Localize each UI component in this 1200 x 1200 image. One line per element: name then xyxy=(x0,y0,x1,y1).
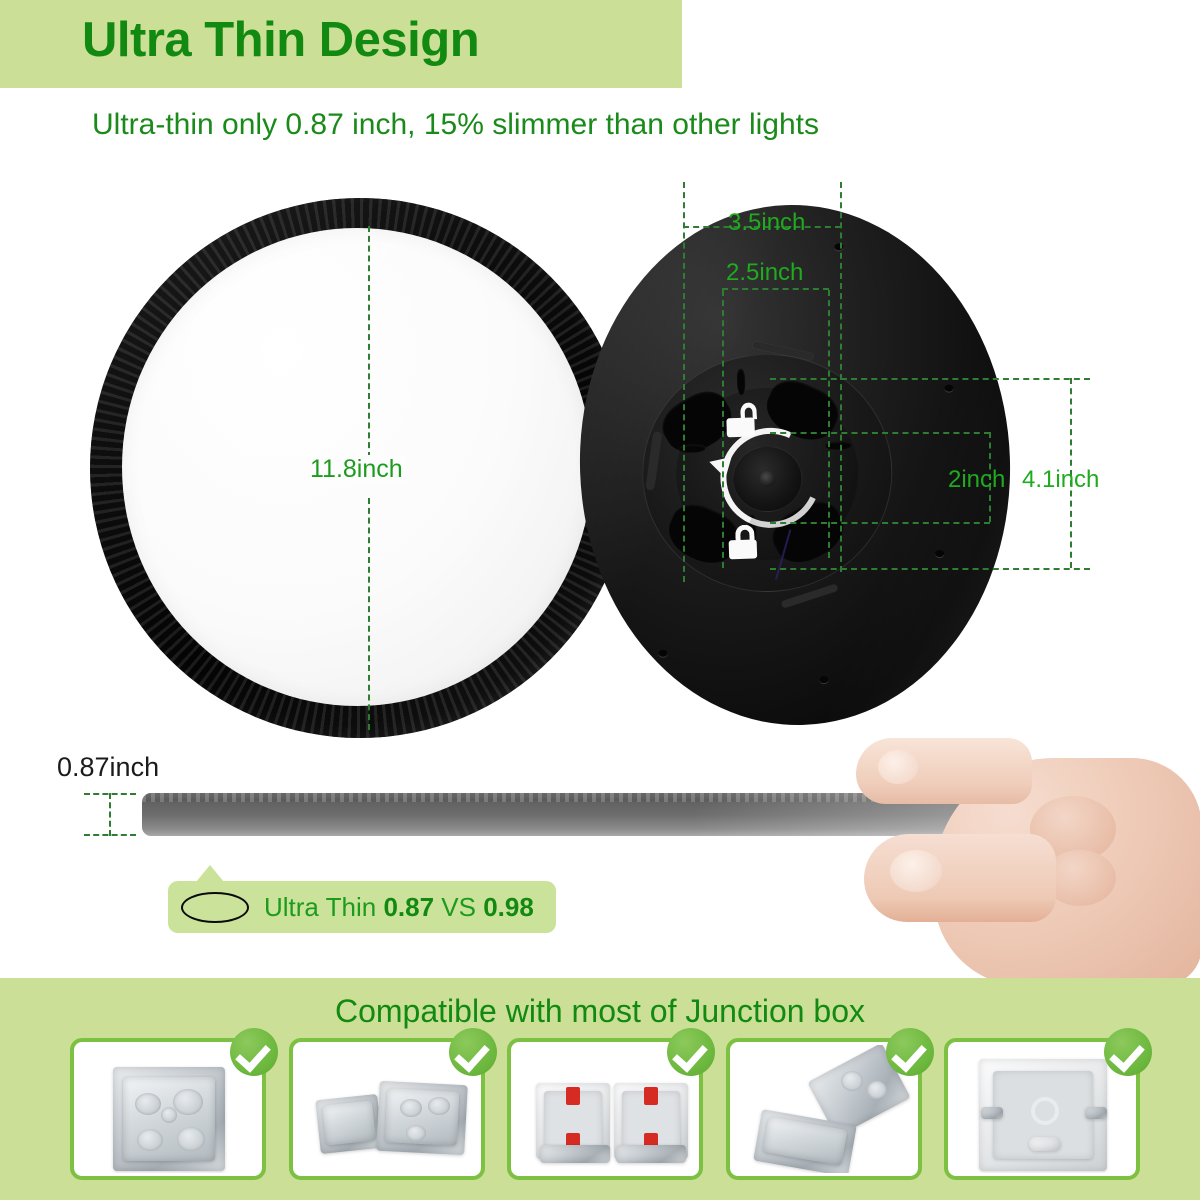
badge-value-old: 0.98 xyxy=(483,892,534,922)
junction-box-card[interactable] xyxy=(944,1038,1140,1180)
diameter-guide-line-lower xyxy=(368,498,370,730)
compatibility-title: Compatible with most of Junction box xyxy=(0,993,1200,1030)
thin-disc-icon xyxy=(181,892,249,923)
check-icon xyxy=(886,1028,934,1076)
guide-2-5-span xyxy=(722,288,829,290)
junction-box-photo-metal-rect-pair xyxy=(733,1045,915,1173)
junction-box-card[interactable] xyxy=(726,1038,922,1180)
page-title: Ultra Thin Design xyxy=(82,12,479,68)
junction-box-card[interactable] xyxy=(289,1038,485,1180)
badge-separator: VS xyxy=(434,892,483,922)
diameter-label: 11.8inch xyxy=(307,455,406,484)
guide-3-5-right xyxy=(840,182,842,572)
unlock-icon xyxy=(726,402,757,437)
junction-box-photo-square-metal xyxy=(77,1045,259,1173)
junction-box-card[interactable] xyxy=(507,1038,703,1180)
ultra-thin-badge-text: Ultra Thin 0.87 VS 0.98 xyxy=(264,892,534,923)
badge-value-new: 0.87 xyxy=(383,892,434,922)
hand-thumb xyxy=(864,834,1056,922)
check-icon xyxy=(1104,1028,1152,1076)
hand-index-finger xyxy=(856,738,1032,804)
guide-hub-low-rail xyxy=(770,522,990,524)
hand-fingernail xyxy=(878,750,918,784)
thickness-gauge xyxy=(84,793,136,836)
hand-thumbnail xyxy=(890,850,942,892)
check-icon xyxy=(667,1028,715,1076)
junction-box-card[interactable] xyxy=(70,1038,266,1180)
guide-2-5-left xyxy=(722,290,724,568)
check-icon xyxy=(449,1028,497,1076)
dimension-label-3-5inch: 3.5inch xyxy=(728,209,805,237)
dimension-label-2inch: 2inch xyxy=(948,466,1005,494)
ultra-thin-badge: Ultra Thin 0.87 VS 0.98 xyxy=(168,881,556,933)
check-icon xyxy=(230,1028,278,1076)
diameter-guide-line xyxy=(368,226,370,458)
screw-hole xyxy=(625,270,634,277)
dimension-label-2-5inch: 2.5inch xyxy=(726,259,803,287)
badge-prefix: Ultra Thin xyxy=(264,892,383,922)
badge-pointer xyxy=(196,865,224,882)
guide-hub-bottom-rail xyxy=(770,568,1090,570)
thickness-label: 0.87inch xyxy=(57,752,159,783)
guide-3-5-left xyxy=(683,182,685,582)
guide-hub-mid-rail xyxy=(770,432,990,434)
hub-notch xyxy=(737,369,746,395)
product-infographic: Ultra Thin Design Ultra-thin only 0.87 i… xyxy=(0,0,1200,1200)
guide-hub-top-rail xyxy=(770,378,1090,380)
guide-2-5-right xyxy=(828,290,830,558)
hand-pinching-fixture xyxy=(838,738,1200,988)
dimension-label-4-1inch: 4.1inch xyxy=(1022,466,1099,494)
junction-box-photo-plastic-red-clips xyxy=(514,1045,696,1173)
junction-box-photo-plastic-square xyxy=(951,1045,1133,1173)
junction-box-photo-metal-pair xyxy=(296,1045,478,1173)
page-subtitle: Ultra-thin only 0.87 inch, 15% slimmer t… xyxy=(92,108,819,142)
lock-icon xyxy=(728,524,759,559)
junction-box-card-list xyxy=(70,1038,1140,1186)
